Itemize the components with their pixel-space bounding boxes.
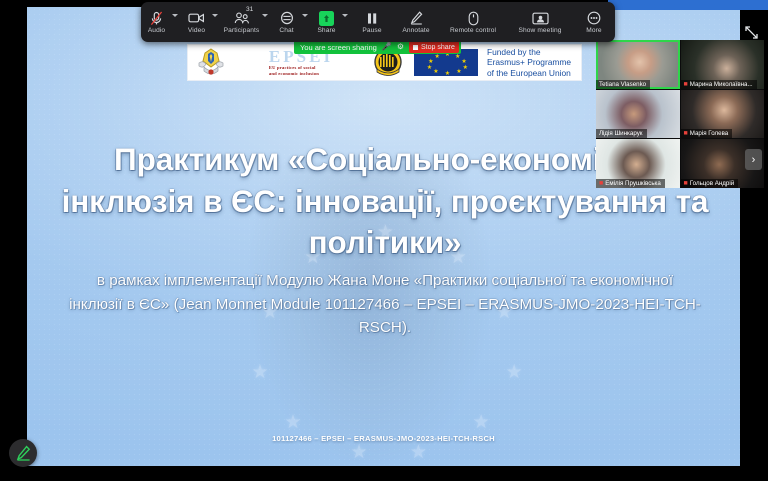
chevron-down-icon[interactable]: [262, 14, 268, 17]
window-person-icon: [532, 10, 549, 26]
annotate-floating-button[interactable]: [9, 439, 37, 467]
expand-arrows-icon[interactable]: [740, 22, 762, 42]
participant-name-label: ■ Емілія Прушківська: [596, 179, 665, 188]
stop-share-button[interactable]: Stop share: [409, 41, 459, 53]
pause-icon: [366, 10, 378, 26]
screen-sharing-label: You are screen sharing: [300, 43, 377, 52]
participant-name-label: Tetiana Vlasenko: [596, 80, 650, 89]
participant-video-grid[interactable]: Tetiana Vlasenko ■ Марина Миколаївна... …: [596, 40, 764, 188]
toolbar-item-more[interactable]: More: [577, 4, 611, 40]
toolbar-item-audio[interactable]: Audio: [145, 4, 179, 40]
toolbar-item-participants[interactable]: 31 Participants: [225, 4, 269, 40]
toolbar-label-annotate: Annotate: [402, 27, 429, 34]
screen-sharing-banner: You are screen sharing 🎤 ⚙ Stop share: [294, 40, 461, 54]
background-strip: [608, 0, 768, 10]
microphone-muted-icon: [150, 10, 163, 26]
toolbar-label-remote-control: Remote control: [450, 27, 496, 34]
toolbar-item-pause[interactable]: Pause: [355, 4, 389, 40]
chevron-down-icon[interactable]: [302, 14, 308, 17]
toolbar-label-share: Share: [317, 27, 335, 34]
chevron-down-icon[interactable]: [212, 14, 218, 17]
pencil-icon: [410, 10, 423, 26]
participant-tile[interactable]: Лідія Шинкарук: [596, 90, 680, 139]
microphone-muted-icon: ■: [684, 81, 688, 88]
participant-tile[interactable]: ■ Марія Голева: [681, 90, 765, 139]
share-screen-icon: [319, 10, 334, 26]
toolbar-item-chat[interactable]: Chat: [275, 4, 309, 40]
microphone-icon[interactable]: 🎤: [382, 43, 392, 51]
microphone-muted-icon: ■: [684, 180, 688, 187]
participant-name-label: ■ Марина Миколаївна...: [681, 80, 757, 89]
toolbar-item-show-meeting[interactable]: Show meeting: [509, 4, 571, 40]
toolbar-label-more: More: [586, 27, 601, 34]
participant-tile[interactable]: ■ Марина Миколаївна...: [681, 40, 765, 89]
chevron-down-icon[interactable]: [172, 14, 178, 17]
mouse-icon: [468, 10, 479, 26]
chevron-down-icon[interactable]: [342, 14, 348, 17]
toolbar-label-participants: Participants: [224, 27, 260, 34]
camera-icon: [188, 10, 205, 26]
eu-funding-text: Funded by the Erasmus+ Programme of the …: [482, 47, 581, 78]
eu-text-line1: Funded by the: [487, 47, 581, 57]
toolbar-item-remote-control[interactable]: Remote control: [443, 4, 503, 40]
toolbar-label-audio: Audio: [148, 27, 165, 34]
participant-tile[interactable]: ■ Емілія Прушківська: [596, 139, 680, 188]
toolbar-item-video[interactable]: Video: [185, 4, 219, 40]
next-page-button[interactable]: ›: [745, 149, 762, 170]
slide-footer-code: 101127466 – EPSEI – ERASMUS-JMO-2023-HEI…: [27, 434, 740, 443]
participant-name-label: Лідія Шинкарук: [596, 129, 647, 138]
toolbar-label-chat: Chat: [279, 27, 293, 34]
participant-tile[interactable]: Tetiana Vlasenko: [596, 40, 680, 89]
participant-name-label: ■ Марія Голева: [681, 129, 733, 138]
eu-text-line3: of the European Union: [487, 68, 581, 78]
slide-subtitle: в рамках імплементації Модулю Жана Моне …: [69, 269, 701, 340]
participant-tile[interactable]: › ■ Гольцов Андрій: [681, 139, 765, 188]
toolbar-item-annotate[interactable]: Annotate: [395, 4, 437, 40]
ukraine-coat-of-arms-icon: [188, 45, 234, 80]
ellipsis-icon: [587, 10, 601, 26]
pencil-icon: [16, 445, 31, 461]
microphone-muted-icon: ■: [599, 180, 603, 187]
toolbar-label-show-meeting: Show meeting: [519, 27, 562, 34]
participants-count-badge: 31: [246, 6, 253, 13]
microphone-muted-icon: ■: [684, 130, 688, 137]
toolbar-item-share[interactable]: Share: [315, 4, 349, 40]
stop-square-icon: [413, 45, 418, 50]
gear-icon[interactable]: ⚙: [397, 43, 404, 51]
chat-bubble-icon: [280, 10, 294, 26]
epsei-tagline-line2: and economic inclusion: [269, 71, 333, 77]
zoom-meeting-window: ★ ★ ★ ★ ★ ★ ★ ★ ★ ★ ★: [0, 0, 768, 481]
stop-share-label: Stop share: [421, 44, 455, 51]
eu-text-line2: Erasmus+ Programme: [487, 57, 581, 67]
toolbar-label-video: Video: [188, 27, 205, 34]
participant-name-label: ■ Гольцов Андрій: [681, 179, 739, 188]
toolbar-label-pause: Pause: [362, 27, 381, 34]
meeting-toolbar[interactable]: Audio Video: [141, 2, 615, 42]
